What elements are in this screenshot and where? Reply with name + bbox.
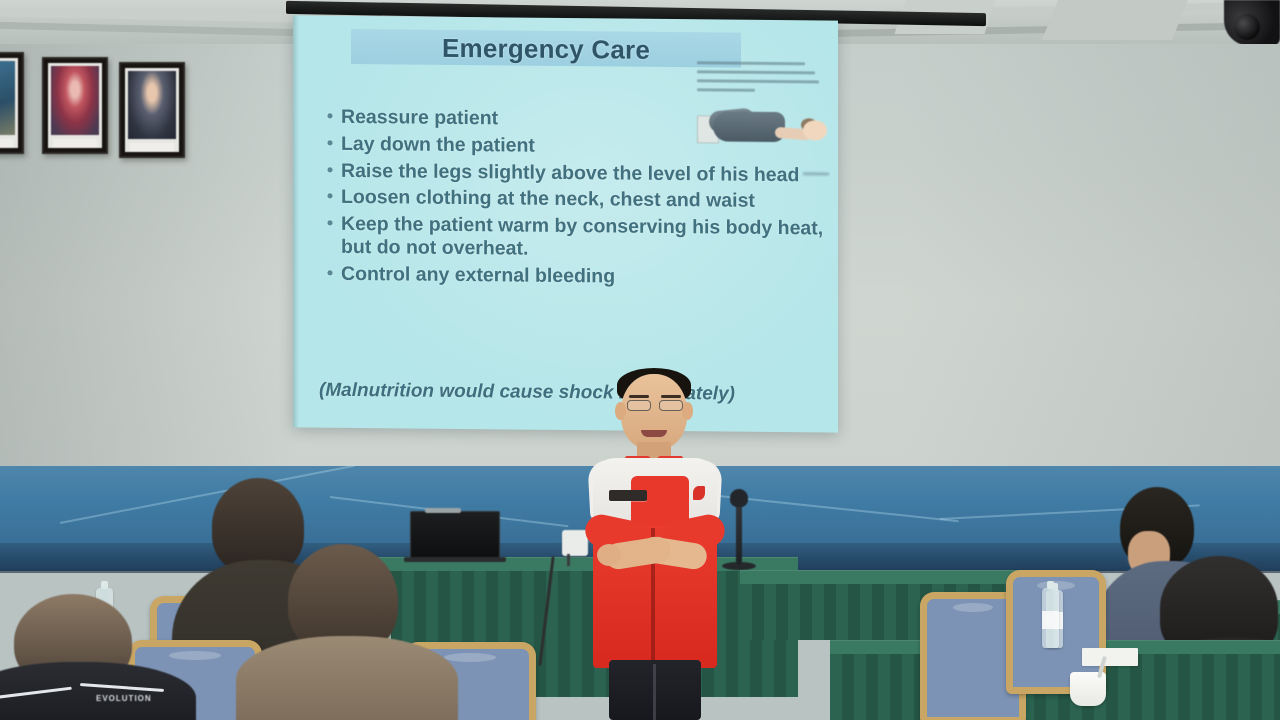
list-item: • Loosen clothing at the neck, chest and…	[319, 186, 829, 214]
portrait-image	[0, 61, 15, 135]
presenter-hand	[597, 544, 621, 566]
presenter-ear	[615, 402, 626, 420]
projector-screen: Emergency Care • Reassure	[293, 15, 838, 432]
audience-member-front-center	[236, 544, 454, 720]
slide-title: Emergency Care	[351, 30, 741, 69]
screen-edge	[293, 15, 299, 427]
list-item: • Lay down the patient	[319, 132, 829, 160]
presenter	[575, 368, 735, 720]
bullet-text: Keep the patient warm by conserving his …	[341, 213, 829, 263]
bullet-text: Lay down the patient	[341, 133, 829, 160]
caption-line	[697, 70, 815, 74]
list-item: • Reassure patient	[319, 106, 829, 134]
framed-portrait-man	[119, 62, 185, 158]
name-plate	[53, 139, 97, 148]
bottle-label	[1042, 611, 1059, 629]
name-plate	[0, 139, 13, 148]
bullet-text: Control any external bleeding	[341, 263, 829, 290]
water-bottle[interactable]	[1042, 588, 1059, 648]
presenter-head	[621, 374, 687, 450]
presentation-room-photo: Emergency Care • Reassure	[0, 0, 1280, 720]
bullet-dot-icon: •	[319, 213, 341, 235]
portrait-image	[51, 66, 99, 135]
bullet-text: Reassure patient	[341, 106, 829, 133]
bullet-dot-icon: •	[319, 106, 341, 128]
trouser-seam	[653, 664, 656, 720]
list-item: • Control any external bleeding	[319, 263, 829, 291]
bullet-text: Raise the legs slightly above the level …	[341, 159, 829, 186]
caption-line	[697, 79, 819, 83]
presenter-ear	[682, 402, 693, 420]
wall-shading	[900, 44, 1280, 474]
list-item: • Raise the legs slightly above the leve…	[319, 159, 829, 187]
bullet-dot-icon: •	[319, 159, 341, 181]
presenter-eyebrow	[629, 395, 649, 398]
portrait-image	[128, 71, 176, 139]
eyeglasses-icon	[659, 400, 683, 411]
bullet-dot-icon: •	[319, 132, 341, 154]
list-item: • Keep the patient warm by conserving hi…	[319, 213, 829, 264]
framed-portrait-woman	[42, 57, 108, 154]
caption-line	[697, 61, 805, 65]
ceiling-speaker-icon	[1224, 0, 1280, 46]
framed-portrait-partial	[0, 52, 24, 154]
presenter-eyebrow	[661, 395, 681, 398]
ceiling-beam	[1042, 0, 1188, 40]
notepaper[interactable]	[1082, 648, 1138, 666]
presenter-mouth	[641, 430, 667, 437]
name-plate	[130, 143, 174, 152]
microphone-stem	[736, 502, 742, 564]
name-badge	[609, 490, 647, 501]
caption-line	[697, 88, 755, 92]
bullet-text: Loosen clothing at the neck, chest and w…	[341, 186, 829, 213]
eyeglasses-icon	[627, 400, 651, 411]
audience-member-front-left: EVOLUTION	[0, 594, 190, 720]
bullet-dot-icon: •	[319, 186, 341, 208]
jacket-logo-text: EVOLUTION	[96, 694, 152, 703]
bullet-dot-icon: •	[319, 263, 341, 285]
slide-bullet-list: • Reassure patient • Lay down the patien…	[319, 106, 829, 295]
person-shoulders	[236, 636, 458, 720]
uniform-logo-icon	[693, 486, 705, 500]
illustration-caption	[697, 61, 823, 98]
